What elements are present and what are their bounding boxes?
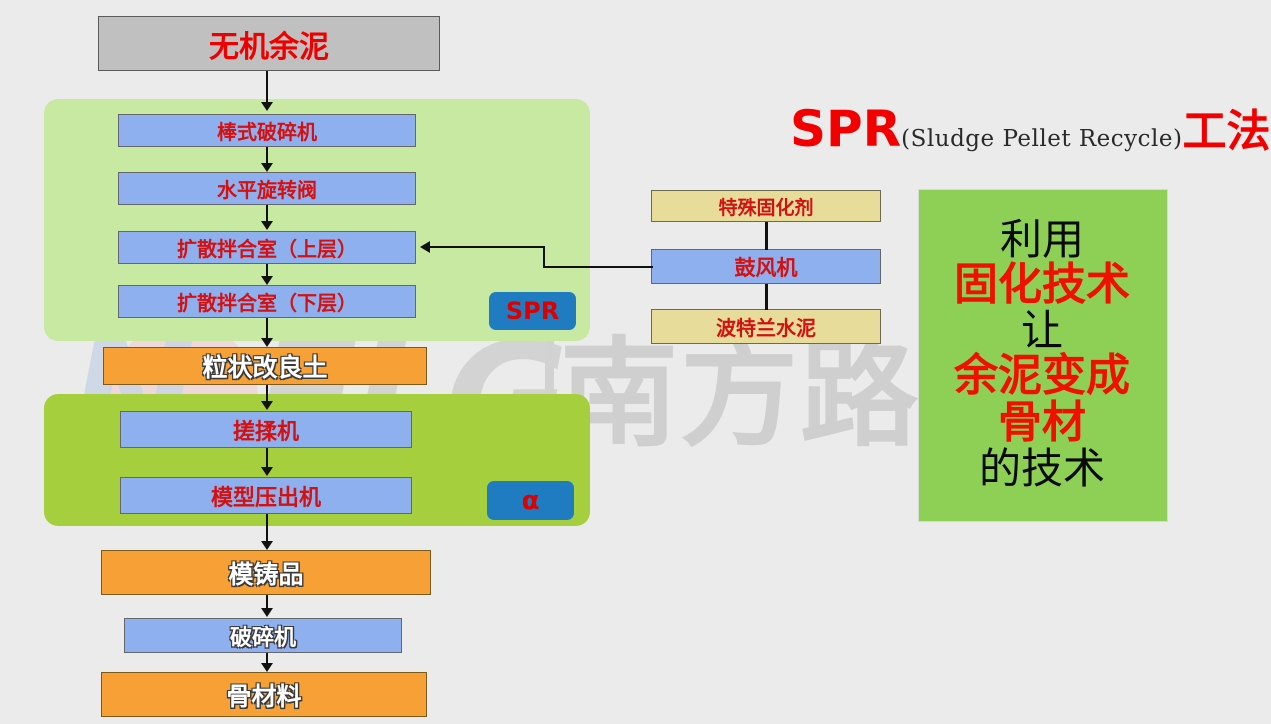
connector-additive-feed-segment-right [543, 266, 653, 268]
connector-additive-feed-segment-vertical [543, 246, 545, 268]
arrowhead-icon [261, 467, 273, 476]
arrowhead-icon [261, 276, 273, 285]
title-suffix: 工法 [1183, 106, 1271, 157]
flow-box-rotary-valve[interactable]: 水平旋转阀 [118, 172, 416, 205]
title-acronym: SPR [790, 100, 901, 158]
page-title: SPR(Sludge Pellet Recycle)工法 [790, 104, 1271, 154]
arrowhead-icon [261, 608, 273, 617]
benefit-line-2: 固化技术 [954, 262, 1130, 309]
spr-stage-badge: SPR [489, 292, 576, 330]
flow-box-kneader[interactable]: 搓揉机 [120, 411, 412, 448]
benefit-line-4: 余泥变成 [954, 353, 1130, 400]
connector-molded-to-crusher [266, 595, 268, 609]
benefit-line-1: 利用 [1000, 218, 1084, 263]
connector-solidifier-to-blower [765, 222, 768, 250]
benefit-line-3: 让 [1021, 309, 1063, 354]
benefit-text-block: 利用 固化技术 让 余泥变成 骨材 的技术 [918, 189, 1166, 520]
connector-kneader-to-extruder [266, 448, 268, 468]
connector-valve-to-upper [266, 205, 268, 222]
flow-box-mold-extruder[interactable]: 模型压出机 [120, 477, 412, 514]
title-expansion: (Sludge Pellet Recycle) [901, 126, 1182, 152]
diagram-canvas: N ® FLG 南方路机 无机余泥 棒式破碎机 水平旋转阀 扩散拌合室（上层） … [0, 0, 1271, 724]
flow-box-mixing-chamber-upper[interactable]: 扩散拌合室（上层） [118, 231, 416, 264]
additive-box-portland-cement[interactable]: 波特兰水泥 [651, 309, 881, 344]
additive-box-solidifier[interactable]: 特殊固化剂 [651, 190, 881, 222]
connector-input-to-crusher [266, 71, 268, 103]
flow-box-aggregate[interactable]: 骨材料 [101, 672, 427, 717]
connector-soil-to-kneader [266, 385, 268, 402]
connector-additive-feed-segment-left [430, 246, 545, 248]
flow-box-mixing-chamber-lower[interactable]: 扩散拌合室（下层） [118, 285, 416, 318]
arrowhead-icon [261, 338, 273, 347]
benefit-line-6: 的技术 [979, 447, 1105, 492]
arrowhead-icon [261, 102, 273, 111]
flow-box-granular-soil[interactable]: 粒状改良土 [103, 347, 427, 385]
arrowhead-icon [261, 663, 273, 672]
benefit-line-5: 骨材 [998, 400, 1086, 447]
arrowhead-icon [420, 241, 430, 253]
flow-box-molded-product[interactable]: 模铸品 [101, 550, 431, 595]
alpha-stage-badge: α [487, 481, 574, 520]
connector-extruder-to-molded [266, 514, 268, 542]
arrowhead-icon [261, 401, 273, 410]
connector-crusher-to-valve [266, 147, 268, 164]
flow-box-rod-crusher[interactable]: 棒式破碎机 [118, 114, 416, 147]
connector-blower-to-cement [765, 284, 768, 310]
arrowhead-icon [261, 541, 273, 550]
arrowhead-icon [261, 163, 273, 172]
connector-lower-to-soil [266, 318, 268, 339]
flow-box-input[interactable]: 无机余泥 [98, 16, 440, 71]
arrowhead-icon [261, 221, 273, 230]
flow-box-crusher[interactable]: 破碎机 [124, 618, 402, 653]
additive-box-blower[interactable]: 鼓风机 [651, 249, 881, 284]
